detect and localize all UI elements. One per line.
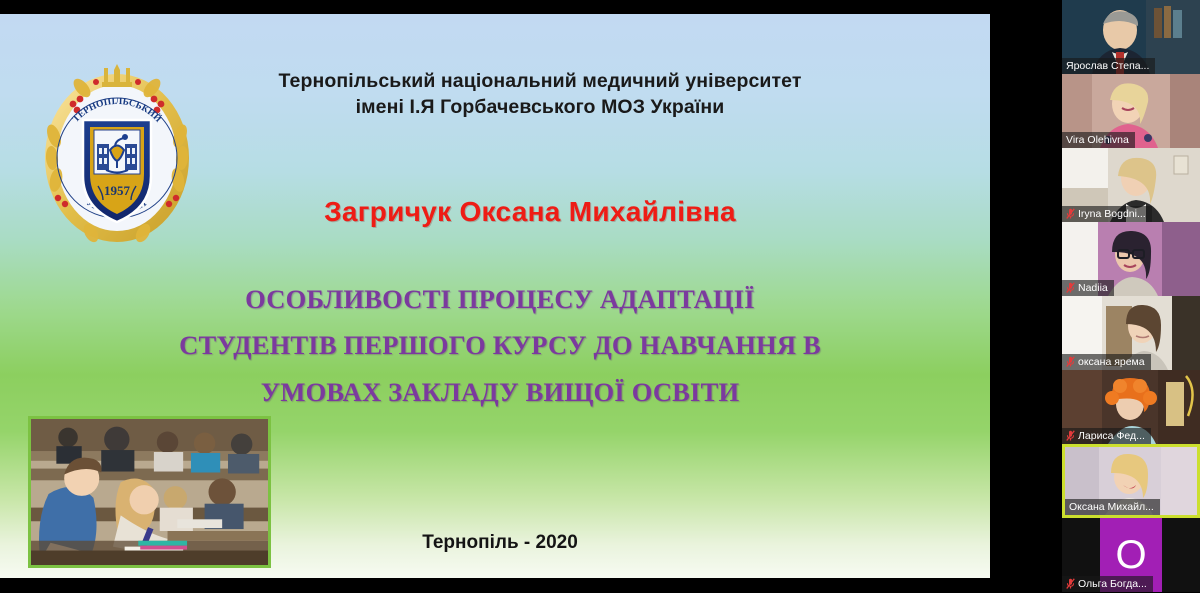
shared-screen-stage: ТЕРНОПІЛЬСЬКИЙ УНІВЕРСИТЕТ	[0, 0, 1062, 593]
video-conference-screen: ТЕРНОПІЛЬСЬКИЙ УНІВЕРСИТЕТ	[0, 0, 1200, 593]
muted-mic-icon	[1066, 356, 1075, 368]
university-line-1: Тернопільський національний медичний уні…	[190, 68, 890, 94]
participant-name: Ольга Богда...	[1078, 578, 1147, 590]
presentation-slide: ТЕРНОПІЛЬСЬКИЙ УНІВЕРСИТЕТ	[0, 14, 990, 578]
presentation-title: ОСОБЛИВОСТІ ПРОЦЕСУ АДАПТАЦІЇ СТУДЕНТІВ …	[100, 276, 900, 415]
participant-tile-active-speaker[interactable]: Оксана Михайл...	[1062, 444, 1200, 518]
participant-name-bar: Nadiia	[1062, 280, 1114, 296]
participant-name-bar: Vira Olehivna	[1062, 132, 1135, 148]
place-and-year: Тернопіль - 2020	[330, 532, 670, 554]
muted-mic-icon	[1066, 578, 1075, 590]
participant-name-bar: Ольга Богда...	[1062, 576, 1153, 592]
participant-tile[interactable]: Ярослав Степа...	[1062, 0, 1200, 74]
participant-name: Лариса Фед...	[1078, 430, 1145, 442]
muted-mic-icon	[1066, 208, 1075, 220]
participant-name-bar: Iryna Bogdni...	[1062, 206, 1152, 222]
participant-name: Vira Olehivna	[1066, 134, 1129, 146]
participant-tile[interactable]: Iryna Bogdni...	[1062, 148, 1200, 222]
muted-mic-icon	[1066, 282, 1075, 294]
participant-name: оксана ярема	[1078, 356, 1145, 368]
title-line-2: СТУДЕНТІВ ПЕРШОГО КУРСУ ДО НАВЧАННЯ В	[100, 322, 900, 368]
title-line-3: УМОВАХ ЗАКЛАДУ ВИЩОЇ ОСВІТИ	[100, 369, 900, 415]
participant-name: Ярослав Степа...	[1066, 60, 1149, 72]
participant-name-bar: Оксана Михайл...	[1065, 499, 1160, 515]
title-line-1: ОСОБЛИВОСТІ ПРОЦЕСУ АДАПТАЦІЇ	[100, 276, 900, 322]
participant-tile[interactable]: Лариса Фед...	[1062, 370, 1200, 444]
participant-name: Оксана Михайл...	[1069, 501, 1154, 513]
participant-name-bar: Ярослав Степа...	[1062, 58, 1155, 74]
participant-name: Iryna Bogdni...	[1078, 208, 1146, 220]
participant-tile[interactable]: Vira Olehivna	[1062, 74, 1200, 148]
university-name: Тернопільський національний медичний уні…	[190, 68, 890, 121]
participant-tile[interactable]: оксана ярема	[1062, 296, 1200, 370]
participant-name-bar: оксана ярема	[1062, 354, 1151, 370]
presenter-name: Загричук Оксана Михайлівна	[160, 196, 900, 228]
emblem-year: 1957	[104, 183, 131, 198]
university-line-2: імені І.Я Горбачевського МОЗ України	[190, 94, 890, 120]
participant-name-bar: Лариса Фед...	[1062, 428, 1151, 444]
participant-tile[interactable]: O Ольга Богда...	[1062, 518, 1200, 592]
muted-mic-icon	[1066, 430, 1075, 442]
participant-tile[interactable]: Nadiia	[1062, 222, 1200, 296]
participant-name: Nadiia	[1078, 282, 1108, 294]
classroom-photo	[28, 416, 271, 568]
participant-filmstrip[interactable]: Ярослав Степа... Vira Olehivna	[1062, 0, 1200, 593]
